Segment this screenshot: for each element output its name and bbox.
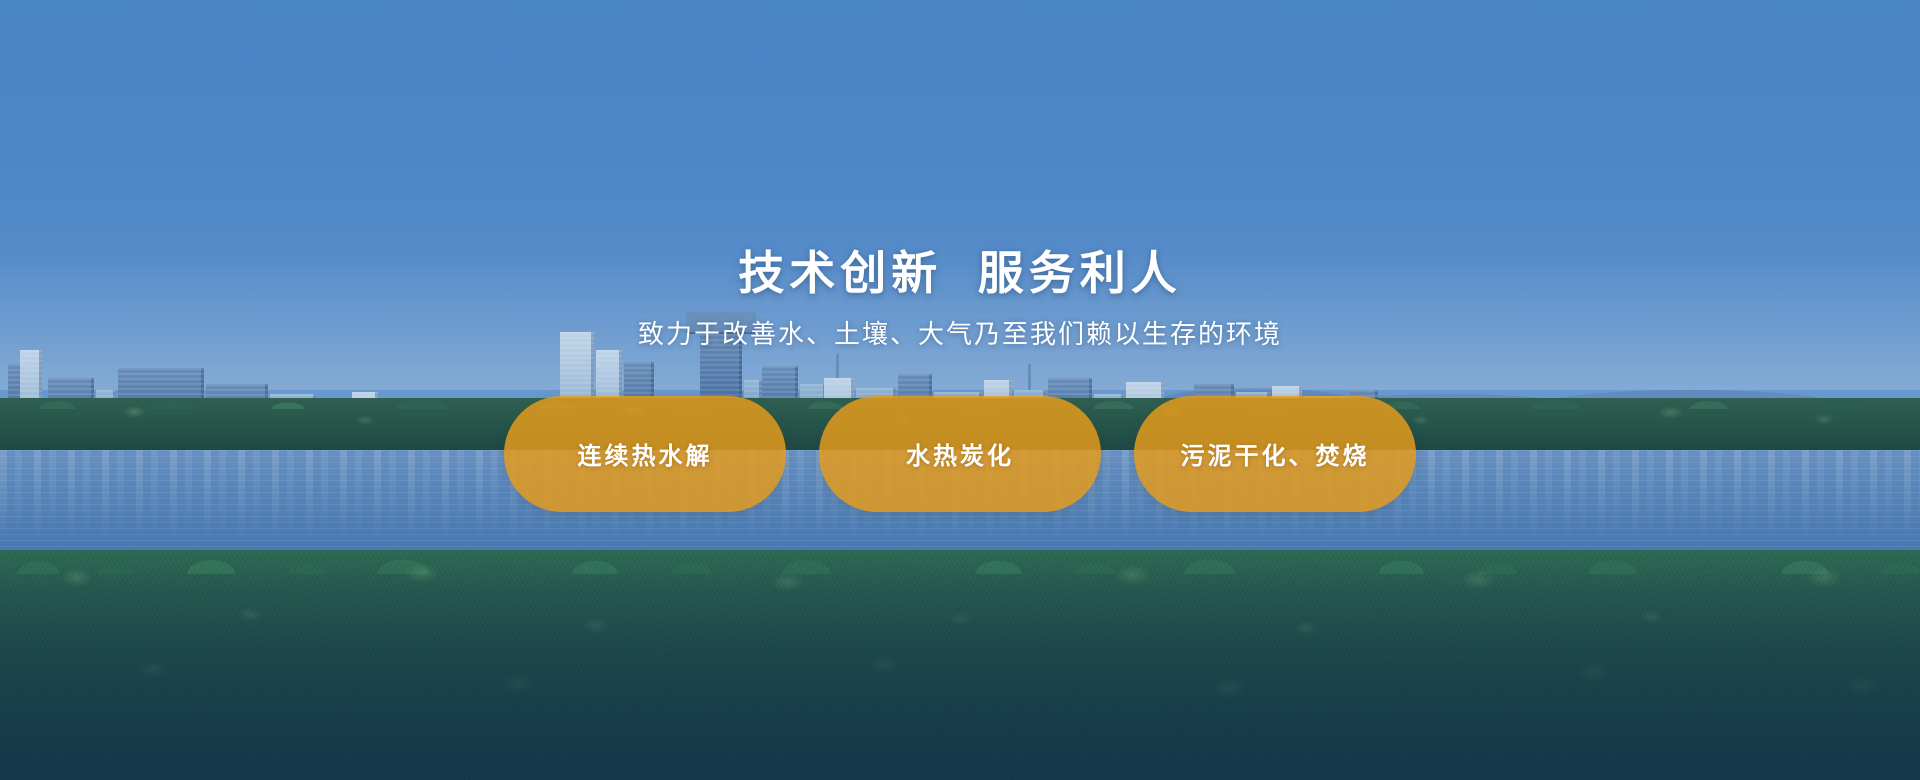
- hero-button-row: 连续热水解 水热炭化 污泥干化、焚烧: [504, 396, 1416, 512]
- hero-title: 技术创新 服务利人: [738, 248, 1182, 299]
- hero-button-hydrothermal-carbonization[interactable]: 水热炭化: [819, 396, 1101, 512]
- hero-banner: 技术创新 服务利人 致力于改善水、土壤、大气乃至我们赖以生存的环境 连续热水解 …: [0, 0, 1920, 780]
- hero-button-sludge-drying-incineration[interactable]: 污泥干化、焚烧: [1134, 396, 1416, 512]
- hero-button-continuous-thermal-hydrolysis[interactable]: 连续热水解: [504, 396, 786, 512]
- hero-subtitle: 致力于改善水、土壤、大气乃至我们赖以生存的环境: [638, 319, 1282, 350]
- hero-content: 技术创新 服务利人 致力于改善水、土壤、大气乃至我们赖以生存的环境 连续热水解 …: [0, 0, 1920, 780]
